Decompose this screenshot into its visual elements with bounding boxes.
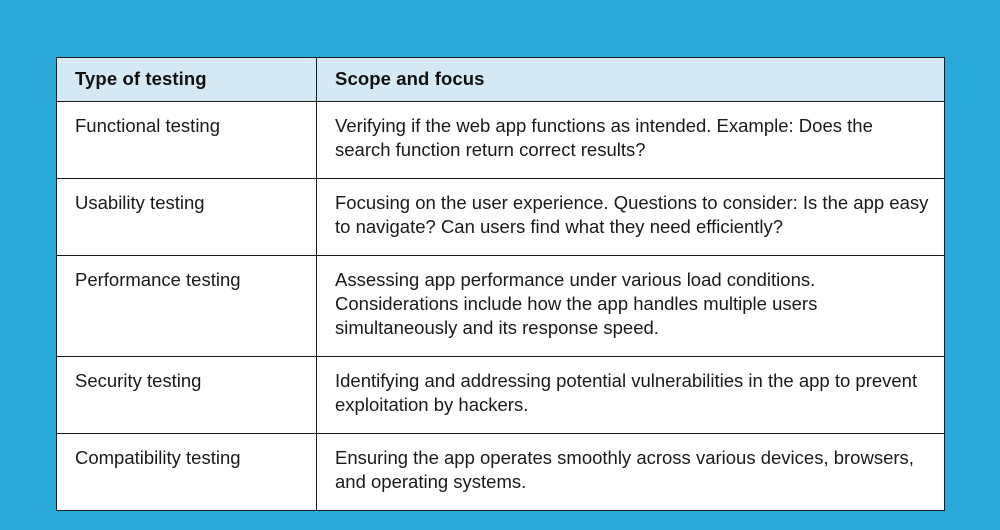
table-row: Security testing Identifying and address…: [57, 357, 945, 434]
cell-testing-type: Usability testing: [57, 179, 317, 256]
cell-scope-and-focus: Identifying and addressing potential vul…: [317, 357, 945, 434]
table-container: Type of testing Scope and focus Function…: [56, 57, 944, 511]
cell-testing-type: Performance testing: [57, 256, 317, 357]
page-canvas: Type of testing Scope and focus Function…: [0, 0, 1000, 530]
cell-scope-and-focus: Assessing app performance under various …: [317, 256, 945, 357]
cell-scope-and-focus: Ensuring the app operates smoothly acros…: [317, 434, 945, 511]
table-header: Type of testing Scope and focus: [57, 58, 945, 102]
cell-testing-type: Compatibility testing: [57, 434, 317, 511]
cell-testing-type: Functional testing: [57, 102, 317, 179]
types-of-testing-table: Type of testing Scope and focus Function…: [56, 57, 945, 511]
table-body: Functional testing Verifying if the web …: [57, 102, 945, 511]
table-row: Functional testing Verifying if the web …: [57, 102, 945, 179]
table-row: Performance testing Assessing app perfor…: [57, 256, 945, 357]
cell-scope-and-focus: Verifying if the web app functions as in…: [317, 102, 945, 179]
table-header-row: Type of testing Scope and focus: [57, 58, 945, 102]
table-row: Usability testing Focusing on the user e…: [57, 179, 945, 256]
cell-scope-and-focus: Focusing on the user experience. Questio…: [317, 179, 945, 256]
column-header-scope-and-focus: Scope and focus: [317, 58, 945, 102]
table-row: Compatibility testing Ensuring the app o…: [57, 434, 945, 511]
column-header-type-of-testing: Type of testing: [57, 58, 317, 102]
cell-testing-type: Security testing: [57, 357, 317, 434]
